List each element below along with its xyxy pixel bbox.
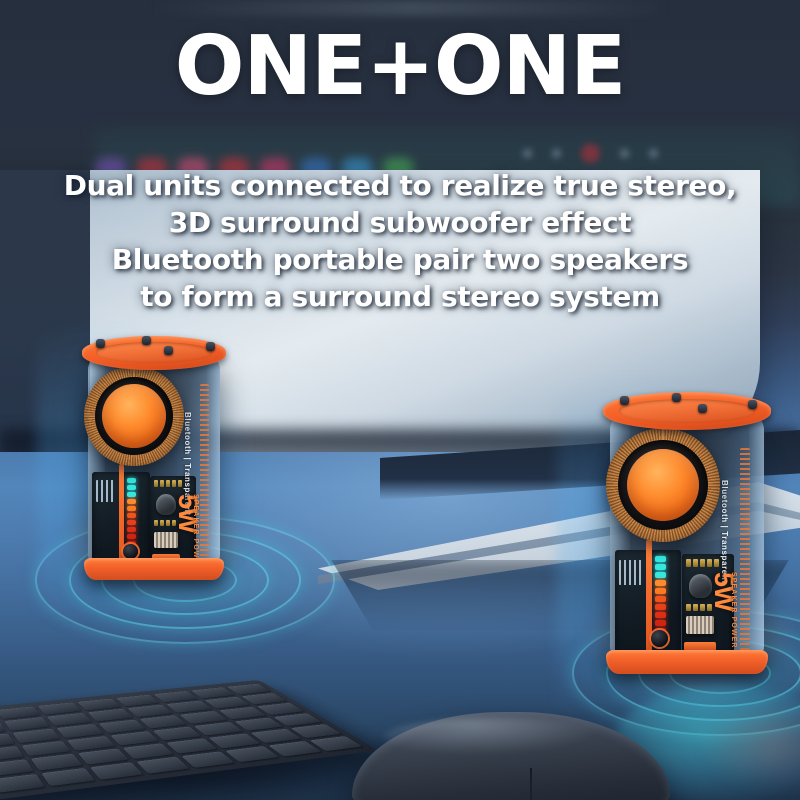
led-segment-3 <box>127 492 136 497</box>
mouse-highlight <box>384 718 607 755</box>
screw-boss-2 <box>142 336 151 345</box>
keyboard-key[interactable] <box>180 711 227 724</box>
led-segment-6 <box>127 513 136 518</box>
speaker-unit-left: Bluetooth | Transparent 5W SPEAKER POWER <box>78 336 228 588</box>
led-segment-7 <box>655 604 666 610</box>
media-controls-blur <box>480 140 700 166</box>
subcopy-block: Dual units connected to realize true ste… <box>0 168 800 316</box>
led-segment-8 <box>655 612 666 618</box>
keyboard-key[interactable] <box>153 726 202 740</box>
glass-highlight-right-edge <box>749 414 764 662</box>
screw-boss-1 <box>620 396 629 405</box>
keyboard-key[interactable] <box>167 738 218 753</box>
page-title: ONE+ONE <box>0 26 800 108</box>
ventilation-grille <box>740 448 750 652</box>
power-icon <box>649 149 658 158</box>
mouse-button-split <box>530 768 532 800</box>
led-segment-1 <box>655 556 666 562</box>
led-segment-2 <box>655 564 666 570</box>
speaker-driver-right <box>606 428 720 542</box>
keyboard-key[interactable] <box>78 749 129 765</box>
led-segment-5 <box>655 588 666 594</box>
control-knob[interactable] <box>123 544 138 559</box>
screw-boss-4 <box>206 342 215 351</box>
keyboard-key[interactable] <box>241 693 286 704</box>
brand-label-right: Bluetooth | Transparent <box>720 480 729 584</box>
prev-icon <box>523 149 532 158</box>
led-segment-5 <box>127 506 136 511</box>
keyboard-key[interactable] <box>204 697 250 709</box>
led-level-meter-left <box>127 478 138 546</box>
keyboard-key[interactable] <box>182 751 235 767</box>
keyboard-key[interactable] <box>31 754 82 771</box>
keyboard-key[interactable] <box>219 707 266 720</box>
keyboard-key[interactable] <box>234 717 283 730</box>
subcopy-line-2: 3D surround subwoofer effect <box>0 205 800 242</box>
keyboard-key[interactable] <box>127 705 173 717</box>
speaker-top-inset-right <box>619 399 755 423</box>
led-segment-7 <box>127 520 136 525</box>
screw-boss-3 <box>164 346 173 355</box>
keyboard-key[interactable] <box>0 774 45 793</box>
screw-boss-1 <box>96 339 105 348</box>
led-segment-9 <box>655 620 666 626</box>
solder-pad-row-top <box>154 480 182 487</box>
speaker-base-cap-right <box>606 650 768 674</box>
led-segment-4 <box>127 499 136 504</box>
keyboard-key[interactable] <box>98 719 145 733</box>
keyboard-key[interactable] <box>225 746 278 762</box>
led-segment-2 <box>127 485 136 490</box>
speaker-unit-right: Bluetooth | Transparent 5W SPEAKER POWER <box>598 392 776 682</box>
control-knob[interactable] <box>651 630 668 647</box>
play-pause-icon <box>581 144 600 163</box>
speaker-top-inset-left <box>96 342 212 363</box>
solder-pad-row-top <box>686 559 719 567</box>
screw-boss-4 <box>748 400 757 409</box>
forward-icon <box>620 149 629 158</box>
keyboard-key[interactable] <box>13 729 60 743</box>
keyboard-key[interactable] <box>67 736 116 751</box>
keyboard-key[interactable] <box>42 768 95 786</box>
keyboard-key[interactable] <box>90 762 143 779</box>
led-segment-6 <box>655 596 666 602</box>
speaker-base-cap-left <box>84 558 224 580</box>
driver-orange-cone <box>102 384 166 448</box>
transformer-coil <box>686 616 714 634</box>
led-level-meter-right <box>655 556 668 634</box>
subcopy-line-3: Bluetooth portable pair two speakers <box>0 242 800 279</box>
keyboard-key[interactable] <box>209 734 260 749</box>
keyboard-key[interactable] <box>87 709 133 722</box>
waveform-icon <box>96 480 116 502</box>
driver-orange-cone <box>627 449 699 521</box>
monitor-topbar-blur <box>150 0 670 16</box>
speaker-driver-left <box>84 366 184 466</box>
subcopy-line-1: Dual units connected to realize true ste… <box>0 168 800 205</box>
led-segment-4 <box>655 580 666 586</box>
keyboard-key[interactable] <box>250 729 301 743</box>
keyboard-key[interactable] <box>194 722 243 736</box>
led-segment-1 <box>127 478 136 483</box>
keyboard-key[interactable] <box>110 731 159 746</box>
ventilation-grille <box>200 384 209 562</box>
keyboard-key[interactable] <box>56 724 103 738</box>
waveform-icon <box>619 560 642 585</box>
keyboard-key[interactable] <box>140 715 187 728</box>
screw-boss-3 <box>698 404 707 413</box>
keyboard-key[interactable] <box>166 701 212 713</box>
led-segment-3 <box>655 572 666 578</box>
led-segment-9 <box>127 534 136 539</box>
transformer-coil <box>154 532 178 548</box>
keyboard-key[interactable] <box>123 743 174 759</box>
keyboard-key[interactable] <box>136 757 189 774</box>
led-segment-8 <box>127 527 136 532</box>
rewind-icon <box>552 149 561 158</box>
screw-boss-2 <box>672 393 681 402</box>
promo-image: ONE+ONE Dual units connected to realize … <box>0 0 800 800</box>
power-caption-right: SPEAKER POWER <box>730 572 737 649</box>
